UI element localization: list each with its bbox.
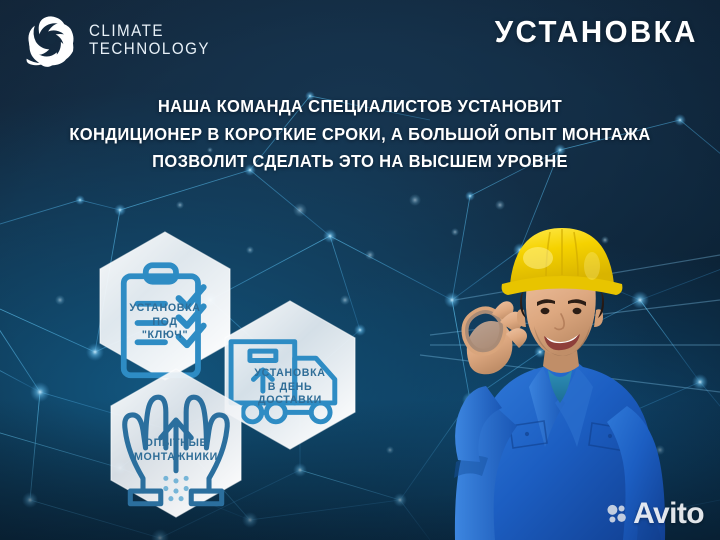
badge-experts[interactable]: ОПЫТНЫЕ МОНТАЖНИКИ (110, 368, 242, 518)
fan-swirl-icon (22, 10, 80, 70)
badge-delivery[interactable]: УСТАНОВКА В ДЕНЬ ДОСТАВКИ (224, 300, 356, 450)
brand-name: CLIMATE TECHNOLOGY (89, 22, 210, 59)
page-title: УСТАНОВКА (495, 14, 698, 50)
headline-line-2: КОНДИЦИОНЕР В КОРОТКИЕ СРОКИ, А БОЛЬШОЙ … (22, 121, 699, 149)
badge-turnkey-label: УСТАНОВКА ПОД "КЛЮЧ" (99, 302, 231, 343)
avito-label: Avito (633, 499, 704, 529)
headline-line-1: НАША КОМАНДА СПЕЦИАЛИСТОВ УСТАНОВИТ (22, 93, 699, 121)
badge-delivery-line3: ДОСТАВКИ (227, 394, 352, 408)
badge-experts-label: ОПЫТНЫЕ МОНТАЖНИКИ (110, 437, 242, 464)
badge-turnkey-line1: УСТАНОВКА (102, 302, 227, 316)
badge-turnkey[interactable]: УСТАНОВКА ПОД "КЛЮЧ" (99, 231, 231, 381)
badge-turnkey-line2: ПОД (102, 316, 227, 330)
headline-block: НАША КОМАНДА СПЕЦИАЛИСТОВ УСТАНОВИТ КОНД… (0, 93, 720, 176)
avito-dots-icon (606, 503, 628, 525)
badge-delivery-line2: В ДЕНЬ (227, 381, 352, 395)
brand-name-line1: CLIMATE (89, 22, 210, 40)
headline-line-3: ПОЗВОЛИТ СДЕЛАТЬ ЭТО НА ВЫСШЕМ УРОВНЕ (22, 148, 699, 176)
badge-experts-line1: ОПЫТНЫЕ (113, 437, 238, 451)
brand-logo[interactable]: CLIMATE TECHNOLOGY (22, 10, 221, 70)
brand-name-line2: TECHNOLOGY (89, 40, 210, 58)
avito-watermark: Avito (606, 499, 704, 529)
badge-experts-line2: МОНТАЖНИКИ (113, 451, 238, 465)
advertisement-banner: CLIMATE TECHNOLOGY УСТАНОВКА НАША КОМАНД… (0, 0, 720, 540)
badge-turnkey-line3: "КЛЮЧ" (102, 329, 227, 343)
badge-delivery-label: УСТАНОВКА В ДЕНЬ ДОСТАВКИ (224, 367, 356, 408)
badge-delivery-line1: УСТАНОВКА (227, 367, 352, 381)
worker-photo (396, 210, 720, 540)
